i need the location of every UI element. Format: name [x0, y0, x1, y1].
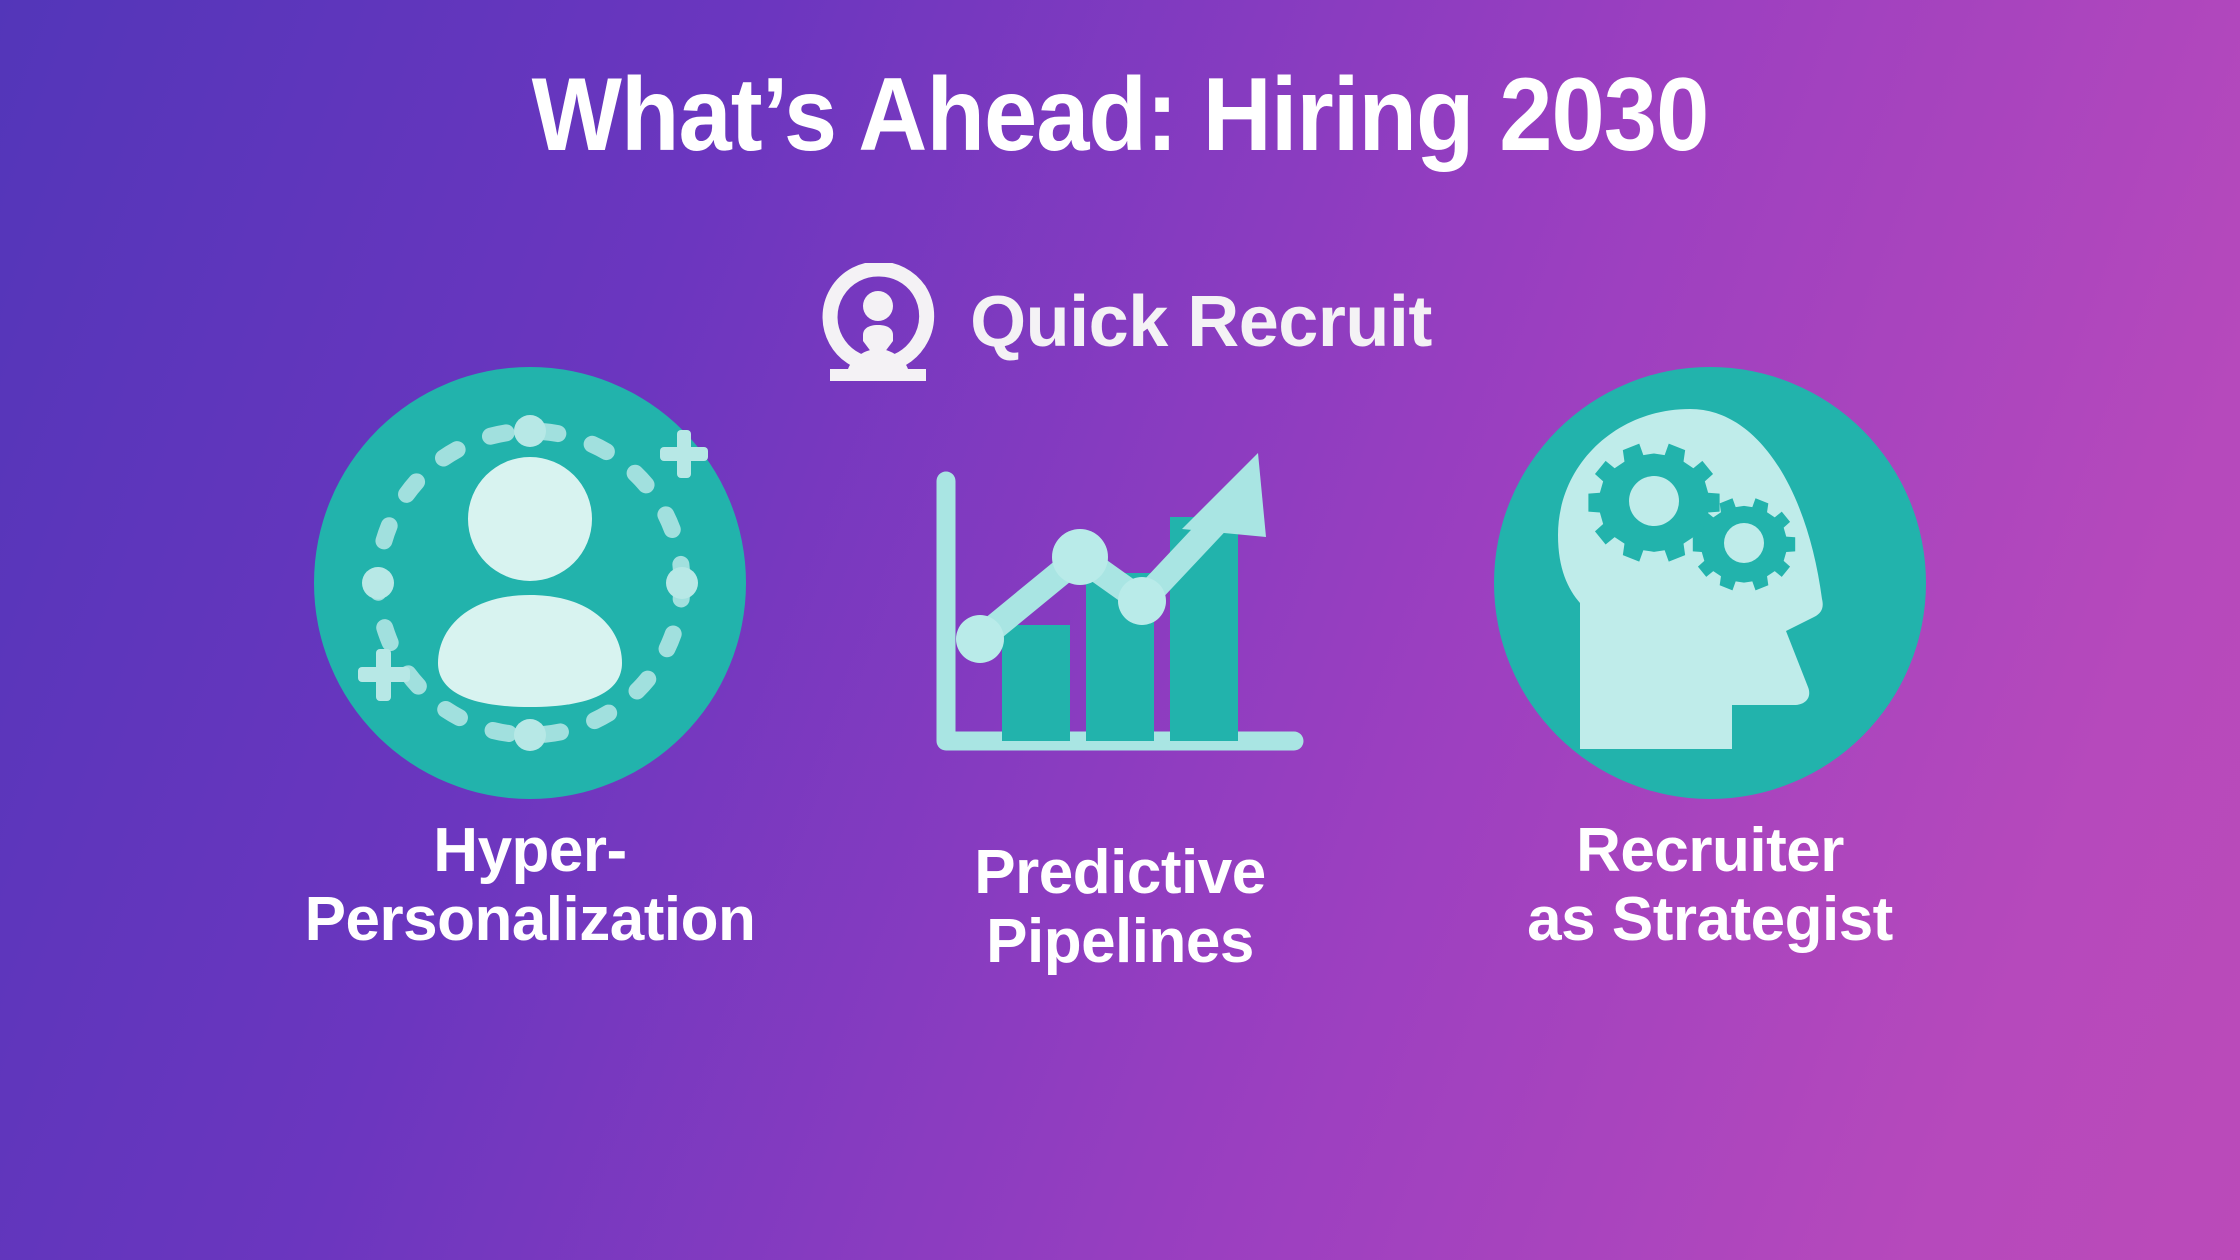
head-with-gears-icon	[1494, 367, 1926, 799]
feature-recruiter-as-strategist: Recruiter as Strategist	[1420, 358, 2000, 955]
person-dashed-ring-icon	[314, 367, 746, 799]
feature-row: Hyper- Personalization	[0, 358, 2240, 1058]
feature-icon-container	[920, 380, 1320, 830]
brand-name: Quick Recruit	[970, 286, 1432, 358]
feature-hyper-personalization: Hyper- Personalization	[240, 358, 820, 955]
growth-bar-chart-arrow-icon	[920, 405, 1320, 805]
feature-label: Recruiter as Strategist	[1527, 816, 1893, 955]
feature-icon-container	[314, 358, 746, 808]
page-title: What’s Ahead: Hiring 2030	[90, 58, 2151, 172]
feature-icon-container	[1494, 358, 1926, 808]
feature-label: Hyper- Personalization	[305, 816, 756, 955]
feature-label: Predictive Pipelines	[974, 838, 1265, 977]
infographic-canvas: What’s Ahead: Hiring 2030 Quick Recruit	[0, 0, 2240, 1260]
feature-predictive-pipelines: Predictive Pipelines	[830, 380, 1410, 977]
